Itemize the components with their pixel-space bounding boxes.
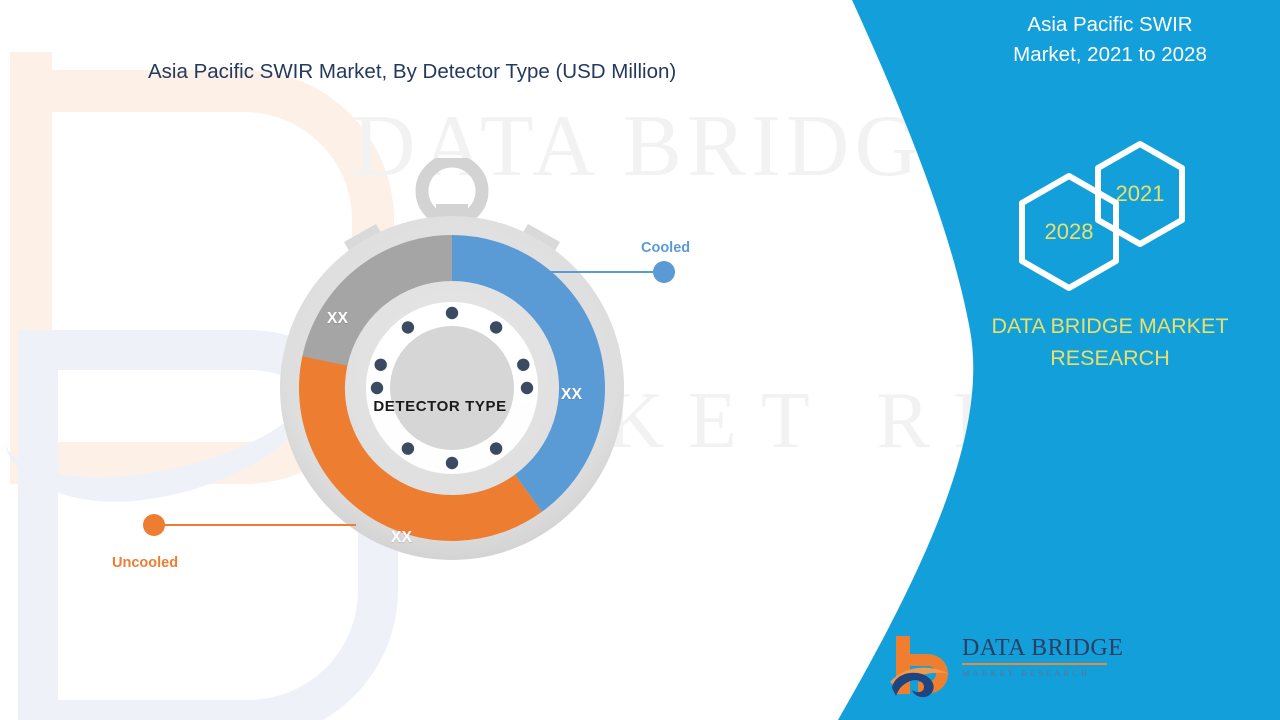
dbmr-logo-rule <box>962 663 1107 665</box>
segment-label-other: XX <box>327 310 348 328</box>
legend-label-cooled: Cooled <box>641 240 690 256</box>
panel-heading-line1: Asia Pacific SWIR <box>940 10 1280 40</box>
dbmr-logo-text: DATA BRIDGE MARKET RESEARCH <box>962 636 1107 678</box>
hexagon-badges: 2021 2028 <box>940 140 1280 280</box>
panel-brand-line1: DATA BRIDGE MARKET <box>940 310 1280 342</box>
hexagon-badge-2028: 2028 <box>1015 172 1123 292</box>
panel-brand-line2: RESEARCH <box>940 342 1280 374</box>
legend-dot-uncooled <box>143 514 165 536</box>
panel-brand-name: DATA BRIDGE MARKET RESEARCH <box>940 310 1280 375</box>
legend-dot-cooled <box>653 261 675 283</box>
logo-b-shape <box>896 636 948 694</box>
segment-label-cooled: XX <box>561 386 582 404</box>
segment-label-uncooled: XX <box>391 529 412 547</box>
hexagon-label-2028: 2028 <box>1015 172 1123 292</box>
dbmr-logo-mark <box>888 632 956 698</box>
chart-title: Asia Pacific SWIR Market, By Detector Ty… <box>148 60 676 84</box>
center-disc <box>390 326 514 450</box>
dbmr-logo-title: DATA BRIDGE <box>962 636 1107 660</box>
dbmr-logo: DATA BRIDGE MARKET RESEARCH <box>888 632 1103 698</box>
donut-chart <box>252 158 652 586</box>
donut-center-label: DETECTOR TYPE <box>340 398 540 415</box>
legend-label-uncooled: Uncooled <box>112 555 178 571</box>
panel-heading: Asia Pacific SWIR Market, 2021 to 2028 <box>940 10 1280 69</box>
slide-canvas: DATA BRIDGE MARKET RESEARCH Asia Pacific… <box>0 0 1280 720</box>
leader-line-cooled <box>470 271 660 273</box>
panel-heading-line2: Market, 2021 to 2028 <box>940 40 1280 70</box>
leader-line-uncooled <box>156 524 356 526</box>
dbmr-logo-subtitle: MARKET RESEARCH <box>962 668 1107 678</box>
